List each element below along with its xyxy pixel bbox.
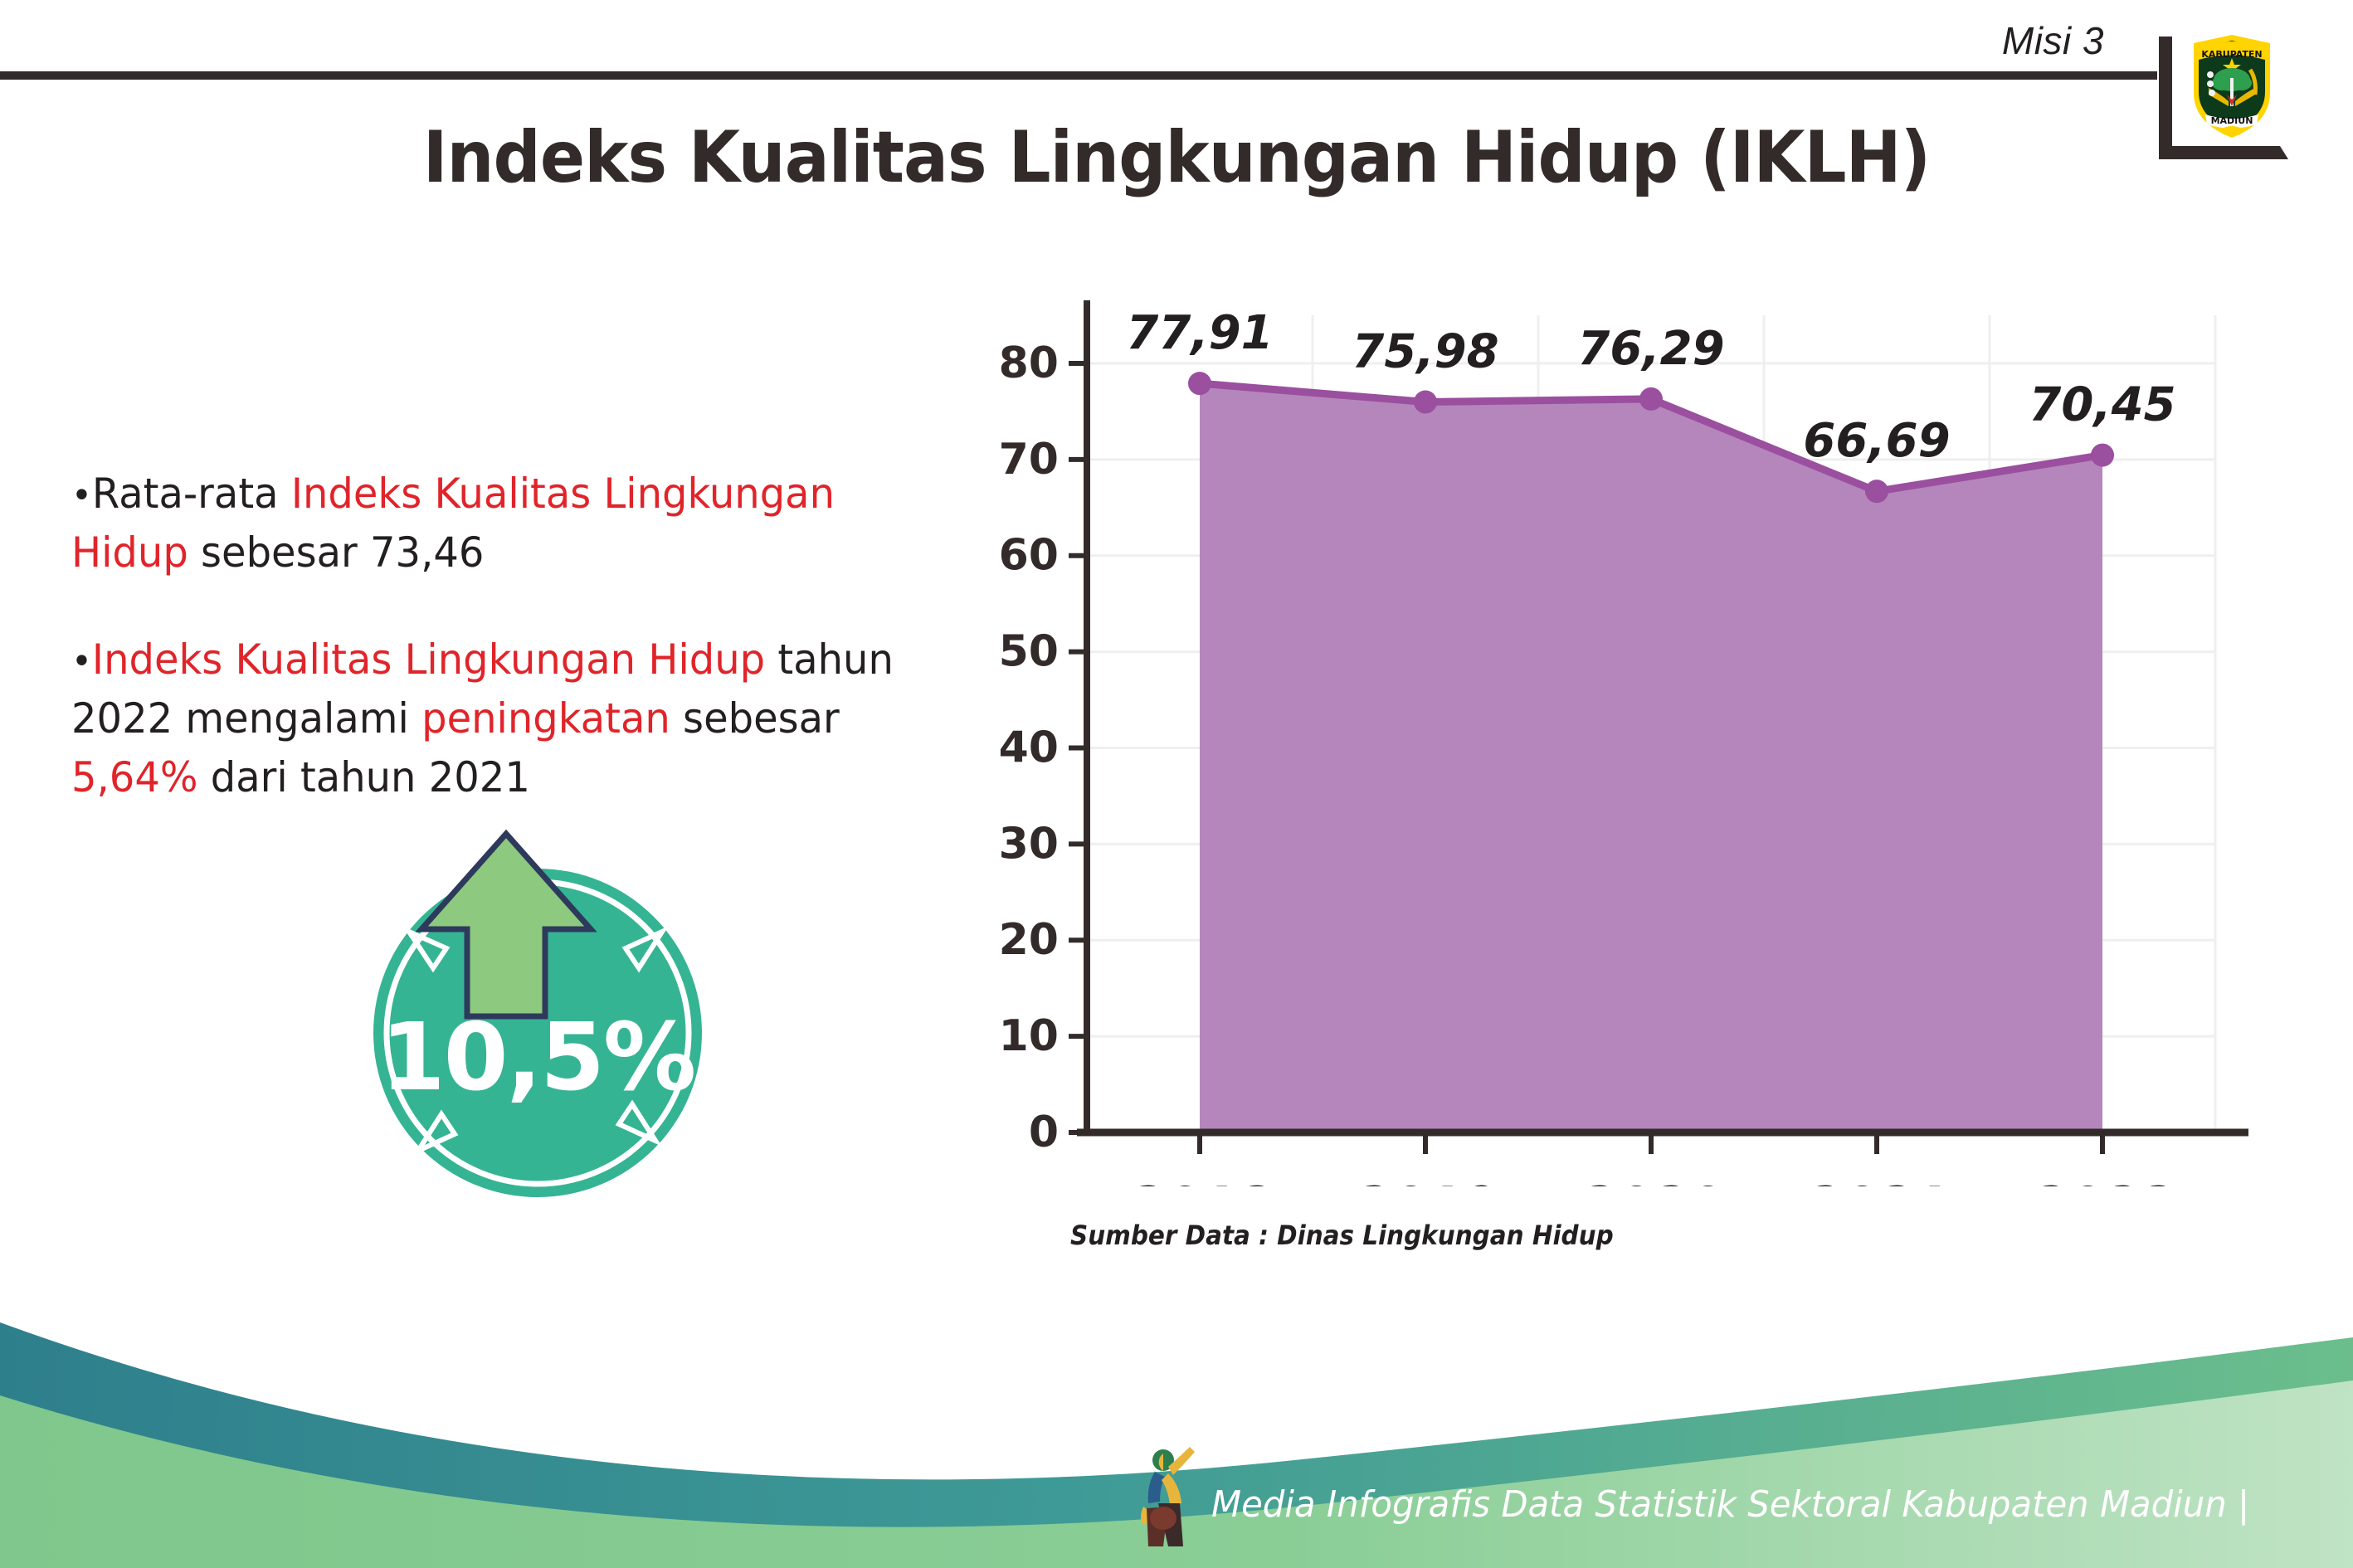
x-tick-label: 2022 xyxy=(2031,1176,2175,1186)
misi-label: Misi 3 xyxy=(2002,18,2104,63)
page-footer: Media Infografis Data Statistik Sektoral… xyxy=(0,1294,2353,1568)
bullet-1-post: sebesar 73,46 xyxy=(188,528,485,577)
header-divider-rule xyxy=(0,71,2157,80)
increase-badge: 10,5% xyxy=(330,751,745,1215)
data-label: 66,69 xyxy=(1803,414,1950,468)
x-tick-label: 2018 xyxy=(1128,1176,1272,1186)
chart-area-series xyxy=(1200,383,2102,1132)
statistik-figure-icon xyxy=(1135,1442,1211,1550)
area-fill xyxy=(1200,383,2102,1132)
chart-y-tick-labels: 01020304050607080 xyxy=(999,338,1059,1157)
iklh-area-chart: 01020304050607080 20182019202020212022 7… xyxy=(979,290,2248,1186)
y-tick-label: 30 xyxy=(999,819,1059,869)
y-tick-label: 0 xyxy=(1029,1108,1059,1157)
data-point-marker xyxy=(1414,391,1437,414)
bullet-dot: • xyxy=(71,475,92,517)
chart-canvas: 01020304050607080 20182019202020212022 7… xyxy=(979,290,2248,1186)
x-tick-label: 2021 xyxy=(1805,1176,1949,1186)
bullet-2-highlight3: 5,64% xyxy=(71,753,197,801)
data-label: 76,29 xyxy=(1577,322,1724,376)
badge-graphics xyxy=(330,751,745,1215)
y-tick-label: 50 xyxy=(999,627,1059,677)
data-point-marker xyxy=(1188,372,1211,395)
x-tick-label: 2019 xyxy=(1354,1176,1498,1186)
x-tick-label: 2020 xyxy=(1580,1176,1723,1186)
chart-x-tick-labels: 20182019202020212022 xyxy=(1128,1176,2175,1186)
y-tick-label: 40 xyxy=(999,723,1059,772)
page-title: Indeks Kualitas Lingkungan Hidup (IKLH) xyxy=(82,116,2270,199)
bullet-1-pre: Rata-rata xyxy=(92,470,291,518)
list-item: •Rata-rata Indeks Kualitas Lingkungan Hi… xyxy=(71,465,916,582)
footer-caption: Media Infografis Data Statistik Sektoral… xyxy=(1211,1483,2249,1526)
chart-source-note: Sumber Data : Dinas Lingkungan Hidup xyxy=(1070,1220,1614,1251)
y-tick-label: 10 xyxy=(999,1011,1059,1061)
y-tick-label: 70 xyxy=(999,435,1059,485)
data-label: 70,45 xyxy=(2029,378,2175,432)
data-point-marker xyxy=(1865,480,1888,503)
y-tick-label: 20 xyxy=(999,915,1059,965)
data-label: 77,91 xyxy=(1126,306,1273,360)
bullet-2-mid2: sebesar xyxy=(670,694,840,743)
data-point-marker xyxy=(1639,387,1663,411)
data-point-marker xyxy=(2091,444,2114,467)
bullet-2-highlight2: peningkatan xyxy=(421,694,670,743)
bullet-2-highlight: Indeks Kualitas Lingkungan Hidup xyxy=(92,635,765,684)
bullet-dot: • xyxy=(71,640,92,683)
y-tick-label: 60 xyxy=(999,531,1059,581)
data-label: 75,98 xyxy=(1352,325,1498,379)
badge-value-text: 10,5% xyxy=(330,1004,745,1112)
y-tick-label: 80 xyxy=(999,338,1059,388)
